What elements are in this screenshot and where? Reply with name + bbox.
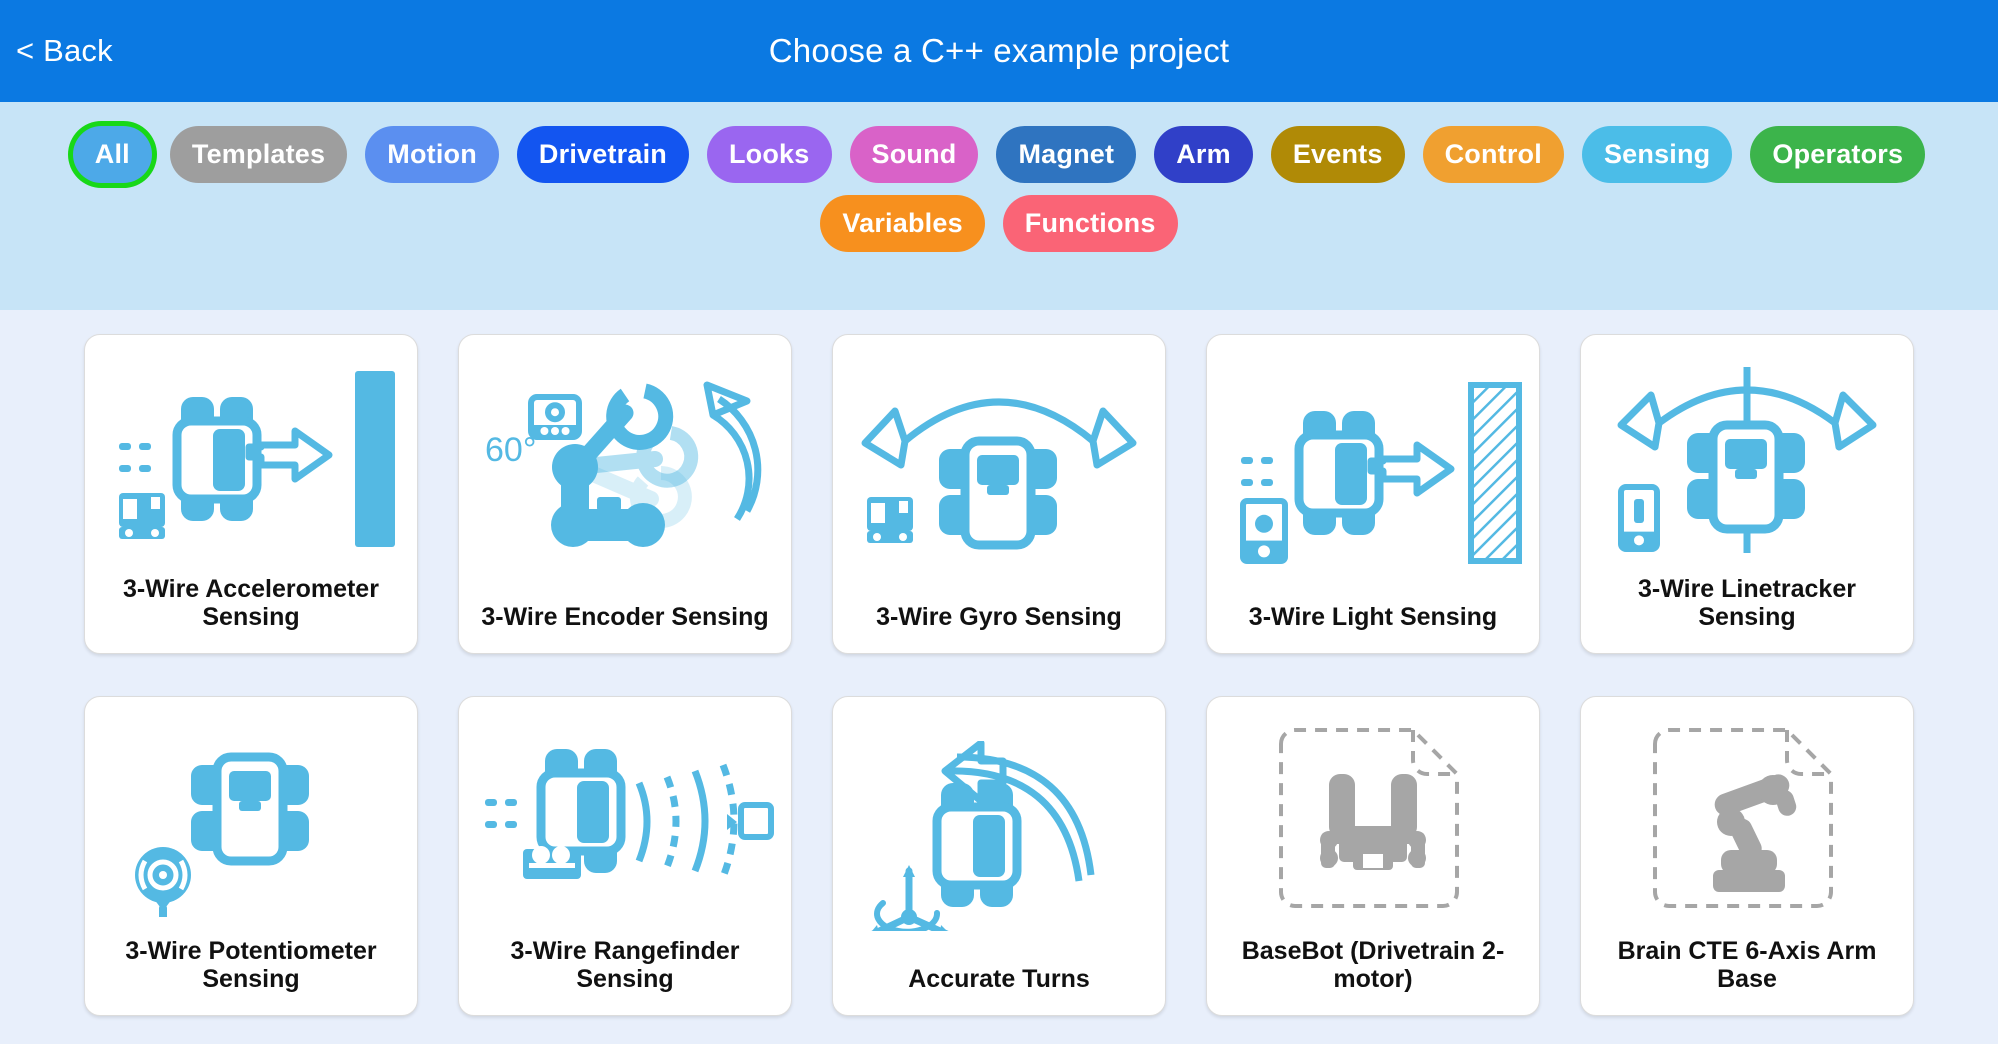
category-chip-label: All — [95, 139, 130, 170]
project-card-title: Accurate Turns — [845, 965, 1153, 1001]
rangefinder-icon — [471, 707, 779, 937]
category-chip-label: Sound — [872, 139, 957, 170]
project-grid-container: 3-Wire Accelerometer Sensing 60° — [0, 310, 1998, 1016]
page-header: < Back Choose a C++ example project — [0, 0, 1998, 102]
category-chip-label: Control — [1445, 139, 1542, 170]
accelerometer-icon — [97, 345, 405, 575]
svg-text:60°: 60° — [485, 431, 536, 469]
category-chip-arm[interactable]: Arm — [1154, 126, 1253, 183]
project-card[interactable]: Accurate Turns — [832, 696, 1166, 1016]
category-chip-label: Sensing — [1604, 139, 1710, 170]
category-chip-templates[interactable]: Templates — [170, 126, 347, 183]
category-chip-variables[interactable]: Variables — [820, 195, 984, 252]
project-card-title: 3-Wire Accelerometer Sensing — [97, 575, 405, 639]
project-card[interactable]: 3-Wire Potentiometer Sensing — [84, 696, 418, 1016]
category-chip-control[interactable]: Control — [1423, 126, 1564, 183]
category-chip-all[interactable]: All — [73, 126, 152, 183]
category-chip-label: Magnet — [1018, 139, 1114, 170]
linetracker-icon — [1593, 345, 1901, 575]
project-card-title: 3-Wire Light Sensing — [1219, 603, 1527, 639]
project-card[interactable]: 3-Wire Linetracker Sensing — [1580, 334, 1914, 654]
project-card[interactable]: BaseBot (Drivetrain 2-motor) — [1206, 696, 1540, 1016]
category-chip-functions[interactable]: Functions — [1003, 195, 1178, 252]
gyro-icon — [845, 345, 1153, 603]
project-card-title: 3-Wire Gyro Sensing — [845, 603, 1153, 639]
category-chip-label: Functions — [1025, 208, 1156, 239]
basebot-icon — [1219, 707, 1527, 937]
project-card[interactable]: 60° 3-Wire Encoder Sensing — [458, 334, 792, 654]
category-chip-row: AllTemplatesMotionDrivetrainLooksSoundMa… — [14, 120, 1984, 258]
category-chip-label: Arm — [1176, 139, 1231, 170]
arm-base-icon — [1593, 707, 1901, 937]
category-chip-label: Templates — [192, 139, 325, 170]
category-chip-operators[interactable]: Operators — [1750, 126, 1925, 183]
category-chip-label: Drivetrain — [539, 139, 667, 170]
back-button[interactable]: < Back — [16, 33, 113, 69]
project-grid: 3-Wire Accelerometer Sensing 60° — [84, 334, 1914, 1016]
category-chip-events[interactable]: Events — [1271, 126, 1405, 183]
project-card[interactable]: 3-Wire Gyro Sensing — [832, 334, 1166, 654]
category-chip-label: Looks — [729, 139, 810, 170]
encoder-icon: 60° — [471, 345, 779, 603]
category-filter-bar: AllTemplatesMotionDrivetrainLooksSoundMa… — [0, 102, 1998, 310]
project-card-title: 3-Wire Potentiometer Sensing — [97, 937, 405, 1001]
project-card-title: BaseBot (Drivetrain 2-motor) — [1219, 937, 1527, 1001]
category-chip-motion[interactable]: Motion — [365, 126, 499, 183]
light-icon — [1219, 345, 1527, 603]
category-chip-label: Variables — [842, 208, 962, 239]
project-card[interactable]: 3-Wire Light Sensing — [1206, 334, 1540, 654]
category-chip-label: Operators — [1772, 139, 1903, 170]
category-chip-sensing[interactable]: Sensing — [1582, 126, 1732, 183]
project-card-title: 3-Wire Linetracker Sensing — [1593, 575, 1901, 639]
category-chip-looks[interactable]: Looks — [707, 126, 832, 183]
project-card-title: 3-Wire Rangefinder Sensing — [471, 937, 779, 1001]
project-card[interactable]: Brain CTE 6-Axis Arm Base — [1580, 696, 1914, 1016]
category-chip-sound[interactable]: Sound — [850, 126, 979, 183]
category-chip-magnet[interactable]: Magnet — [996, 126, 1136, 183]
accurate-turns-icon — [845, 707, 1153, 965]
project-card[interactable]: 3-Wire Rangefinder Sensing — [458, 696, 792, 1016]
project-card-title: 3-Wire Encoder Sensing — [471, 603, 779, 639]
page-title: Choose a C++ example project — [0, 32, 1998, 70]
category-chip-drivetrain[interactable]: Drivetrain — [517, 126, 689, 183]
category-chip-label: Events — [1293, 139, 1383, 170]
potentiometer-icon — [97, 707, 405, 937]
project-card[interactable]: 3-Wire Accelerometer Sensing — [84, 334, 418, 654]
category-chip-label: Motion — [387, 139, 477, 170]
project-card-title: Brain CTE 6-Axis Arm Base — [1593, 937, 1901, 1001]
